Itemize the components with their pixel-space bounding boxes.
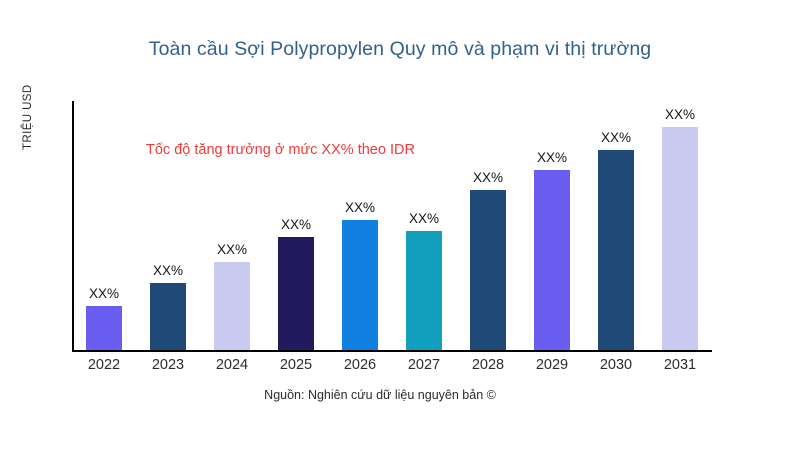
bar-value-label: XX%: [601, 130, 631, 145]
bar-rect[interactable]: [406, 231, 442, 350]
y-axis-line: [72, 101, 74, 351]
growth-rate-annotation: Tốc độ tăng trưởng ở mức XX% theo IDR: [146, 142, 415, 158]
bar-rect[interactable]: [662, 127, 698, 350]
y-axis-title: TRIỆU USD: [22, 84, 34, 150]
bar-group[interactable]: XX%: [406, 211, 442, 350]
bar-value-label: XX%: [665, 107, 695, 122]
bar-value-label: XX%: [89, 286, 119, 301]
bar-group[interactable]: XX%: [534, 150, 570, 350]
chart-container: Toàn cầu Sợi Polypropylen Quy mô và phạm…: [0, 0, 800, 450]
bar-group[interactable]: XX%: [86, 286, 122, 350]
bar-group[interactable]: XX%: [278, 217, 314, 350]
chart-title: Toàn cầu Sợi Polypropylen Quy mô và phạm…: [0, 38, 800, 61]
bar-rect[interactable]: [214, 262, 250, 350]
bar-rect[interactable]: [534, 170, 570, 350]
bar-value-label: XX%: [345, 200, 375, 215]
bar-group[interactable]: XX%: [470, 170, 506, 350]
plot-area: XX%XX%XX%XX%XX%XX%XX%XX%XX%XX%: [72, 101, 712, 351]
bar-value-label: XX%: [537, 150, 567, 165]
bar-value-label: XX%: [409, 211, 439, 226]
bar-rect[interactable]: [342, 220, 378, 350]
bar-group[interactable]: XX%: [598, 130, 634, 350]
x-axis-tick-label: 2031: [640, 357, 720, 373]
bar-value-label: XX%: [281, 217, 311, 232]
bar-value-label: XX%: [217, 242, 247, 257]
bar-rect[interactable]: [278, 237, 314, 350]
bar-value-label: XX%: [153, 263, 183, 278]
bar-group[interactable]: XX%: [342, 200, 378, 350]
source-note: Nguồn: Nghiên cứu dữ liệu nguyên bản ©: [0, 388, 760, 402]
bar-rect[interactable]: [598, 150, 634, 350]
bar-rect[interactable]: [470, 190, 506, 350]
x-axis-line: [72, 350, 712, 352]
bar-value-label: XX%: [473, 170, 503, 185]
bar-group[interactable]: XX%: [662, 107, 698, 350]
bar-group[interactable]: XX%: [214, 242, 250, 350]
bar-rect[interactable]: [86, 306, 122, 350]
bar-rect[interactable]: [150, 283, 186, 350]
bar-group[interactable]: XX%: [150, 263, 186, 350]
